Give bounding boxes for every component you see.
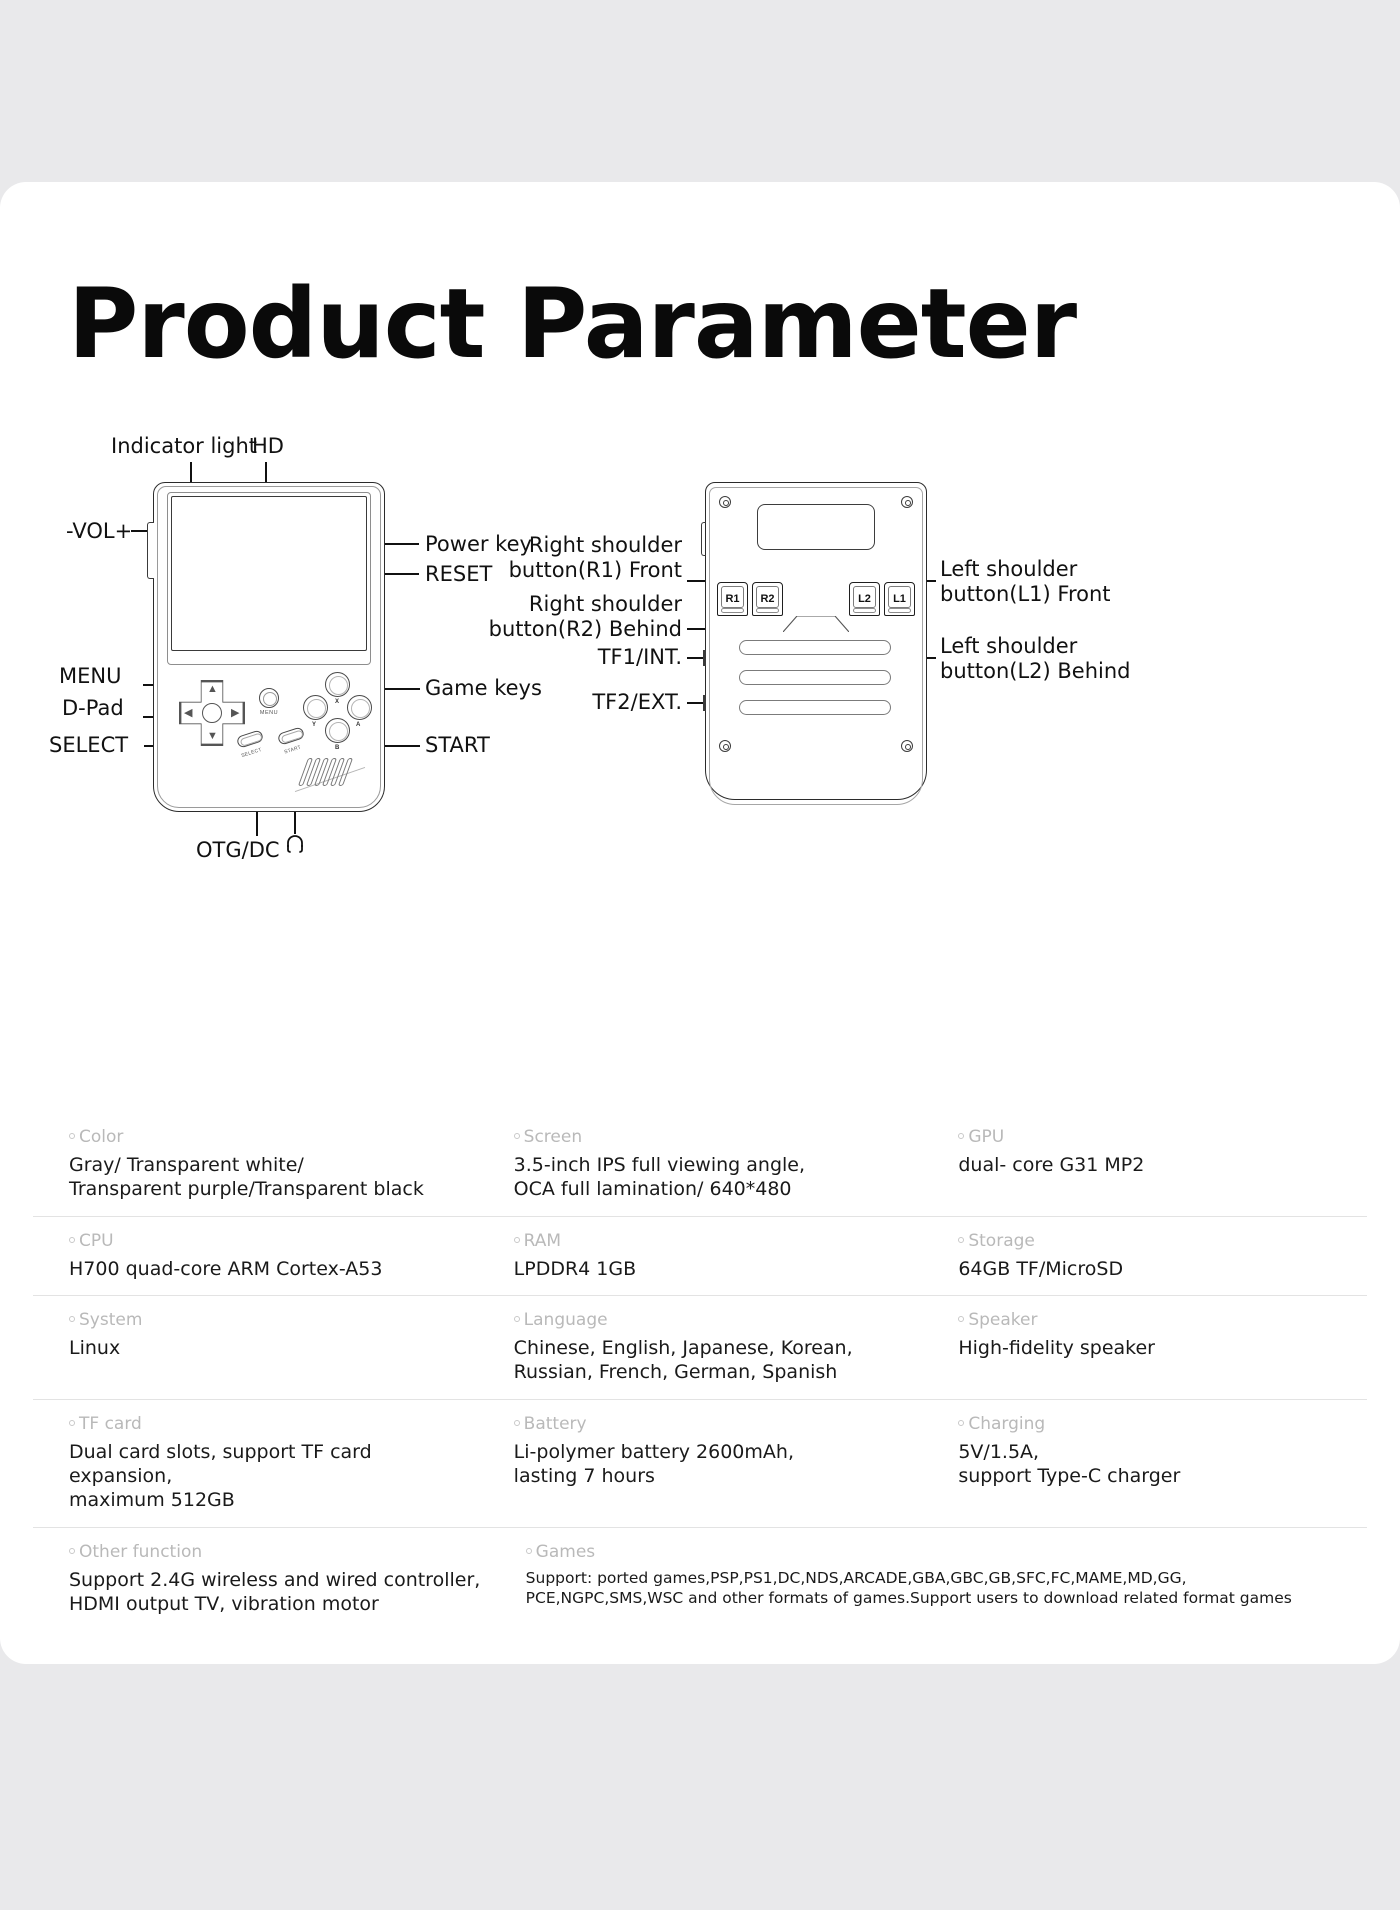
tf1-slot — [703, 650, 706, 666]
spec-value: H700 quad-core ARM Cortex-A53 — [69, 1257, 478, 1281]
spec-cell-other-function: Other function Support 2.4G wireless and… — [33, 1528, 490, 1631]
spec-cell-system: System Linux — [33, 1296, 478, 1399]
spec-value: Support 2.4G wireless and wired controll… — [69, 1568, 490, 1617]
vent-slot-1 — [739, 640, 891, 655]
tf2-slot — [703, 695, 706, 711]
bullet-icon — [514, 1237, 520, 1243]
spec-value: 5V/1.5A, support Type-C charger — [958, 1440, 1367, 1489]
bullet-icon — [958, 1316, 964, 1322]
label-right-shoulder-r2: Right shoulder button(R2) Behind — [448, 592, 682, 642]
spec-cell-cpu: CPU H700 quad-core ARM Cortex-A53 — [33, 1217, 478, 1295]
bullet-icon — [69, 1133, 75, 1139]
bullet-icon — [958, 1420, 964, 1426]
back-center-notch — [783, 616, 849, 632]
screw-top-right — [901, 496, 913, 508]
bullet-icon — [526, 1548, 532, 1554]
spec-value: Support: ported games,PSP,PS1,DC,NDS,ARC… — [526, 1568, 1367, 1610]
spec-cell-tf-card: TF card Dual card slots, support TF card… — [33, 1400, 478, 1527]
spec-cell-games: Games Support: ported games,PSP,PS1,DC,N… — [490, 1528, 1367, 1631]
spec-cell-color: Color Gray/ Transparent white/ Transpare… — [33, 1113, 478, 1216]
spec-cell-speaker: Speaker High-fidelity speaker — [922, 1296, 1367, 1399]
shoulder-r1-label: R1 — [718, 593, 747, 605]
shoulder-r2-label: R2 — [753, 593, 782, 605]
back-device-body: R1 R2 L2 L1 — [705, 482, 927, 810]
bullet-icon — [958, 1237, 964, 1243]
spec-key: Language — [514, 1312, 923, 1329]
spec-key: Screen — [514, 1129, 923, 1146]
spec-cell-gpu: GPU dual- core G31 MP2 — [922, 1113, 1367, 1216]
spec-key: CPU — [69, 1233, 478, 1250]
shoulder-l1-lip — [888, 608, 911, 613]
bullet-icon — [958, 1133, 964, 1139]
screw-top-left — [719, 496, 731, 508]
shoulder-l2-label: L2 — [850, 593, 879, 605]
shoulder-button-r2[interactable]: R2 — [752, 582, 783, 616]
spec-cell-screen: Screen 3.5-inch IPS full viewing angle, … — [478, 1113, 923, 1216]
spec-value: 3.5-inch IPS full viewing angle, OCA ful… — [514, 1153, 923, 1202]
spec-cell-charging: Charging 5V/1.5A, support Type-C charger — [922, 1400, 1367, 1527]
spec-key: RAM — [514, 1233, 923, 1250]
spec-key: Storage — [958, 1233, 1367, 1250]
label-tf2: TF2/EXT. — [540, 690, 682, 715]
spec-value: Linux — [69, 1336, 478, 1360]
spec-key: Color — [69, 1129, 478, 1146]
vent-slot-3 — [739, 700, 891, 715]
spec-cell-storage: Storage 64GB TF/MicroSD — [922, 1217, 1367, 1295]
spec-row: CPU H700 quad-core ARM Cortex-A53 RAM LP… — [33, 1217, 1367, 1296]
screw-bottom-left — [719, 740, 731, 752]
spec-key: Games — [526, 1544, 1367, 1561]
spec-value: Gray/ Transparent white/ Transparent pur… — [69, 1153, 478, 1202]
spec-row: Other function Support 2.4G wireless and… — [33, 1528, 1367, 1631]
bullet-icon — [69, 1548, 75, 1554]
back-label-window — [757, 504, 875, 550]
spec-cell-battery: Battery Li-polymer battery 2600mAh, last… — [478, 1400, 923, 1527]
vent-slot-2 — [739, 670, 891, 685]
spec-cell-language: Language Chinese, English, Japanese, Kor… — [478, 1296, 923, 1399]
bullet-icon — [514, 1316, 520, 1322]
shoulder-button-l2[interactable]: L2 — [849, 582, 880, 616]
spec-key: GPU — [958, 1129, 1367, 1146]
shoulder-r2-lip — [756, 608, 779, 613]
spec-value: High-fidelity speaker — [958, 1336, 1367, 1360]
back-view-diagram: Right shoulder button(R1) Front Right sh… — [0, 0, 1400, 1060]
shoulder-button-r1[interactable]: R1 — [717, 582, 748, 616]
spec-value: Dual card slots, support TF card expansi… — [69, 1440, 478, 1513]
label-right-shoulder-r1: Right shoulder button(R1) Front — [448, 533, 682, 583]
shoulder-l1-label: L1 — [885, 593, 914, 605]
product-parameter-page: Product Parameter Indicator light HD -VO… — [0, 0, 1400, 1910]
screw-bottom-right — [901, 740, 913, 752]
spec-key: Charging — [958, 1416, 1367, 1433]
spec-value: Li-polymer battery 2600mAh, lasting 7 ho… — [514, 1440, 923, 1489]
spec-key: TF card — [69, 1416, 478, 1433]
spec-value: Chinese, English, Japanese, Korean, Russ… — [514, 1336, 923, 1385]
spec-table: Color Gray/ Transparent white/ Transpare… — [33, 1113, 1367, 1630]
bullet-icon — [69, 1316, 75, 1322]
bullet-icon — [514, 1133, 520, 1139]
bullet-icon — [514, 1420, 520, 1426]
label-tf1: TF1/INT. — [540, 645, 682, 670]
spec-value: 64GB TF/MicroSD — [958, 1257, 1367, 1281]
spec-value: dual- core G31 MP2 — [958, 1153, 1367, 1177]
spec-row: System Linux Language Chinese, English, … — [33, 1296, 1367, 1400]
label-left-shoulder-l1: Left shoulder button(L1) Front — [940, 557, 1111, 607]
spec-value: LPDDR4 1GB — [514, 1257, 923, 1281]
shoulder-button-l1[interactable]: L1 — [884, 582, 915, 616]
back-side-button[interactable] — [701, 522, 706, 556]
label-left-shoulder-l2: Left shoulder button(L2) Behind — [940, 634, 1131, 684]
shoulder-l2-lip — [853, 608, 876, 613]
spec-key: System — [69, 1312, 478, 1329]
shoulder-r1-lip — [721, 608, 744, 613]
spec-key: Battery — [514, 1416, 923, 1433]
spec-row: Color Gray/ Transparent white/ Transpare… — [33, 1113, 1367, 1217]
bullet-icon — [69, 1237, 75, 1243]
spec-key: Other function — [69, 1544, 490, 1561]
spec-row: TF card Dual card slots, support TF card… — [33, 1400, 1367, 1528]
spec-key: Speaker — [958, 1312, 1367, 1329]
spec-cell-ram: RAM LPDDR4 1GB — [478, 1217, 923, 1295]
bullet-icon — [69, 1420, 75, 1426]
